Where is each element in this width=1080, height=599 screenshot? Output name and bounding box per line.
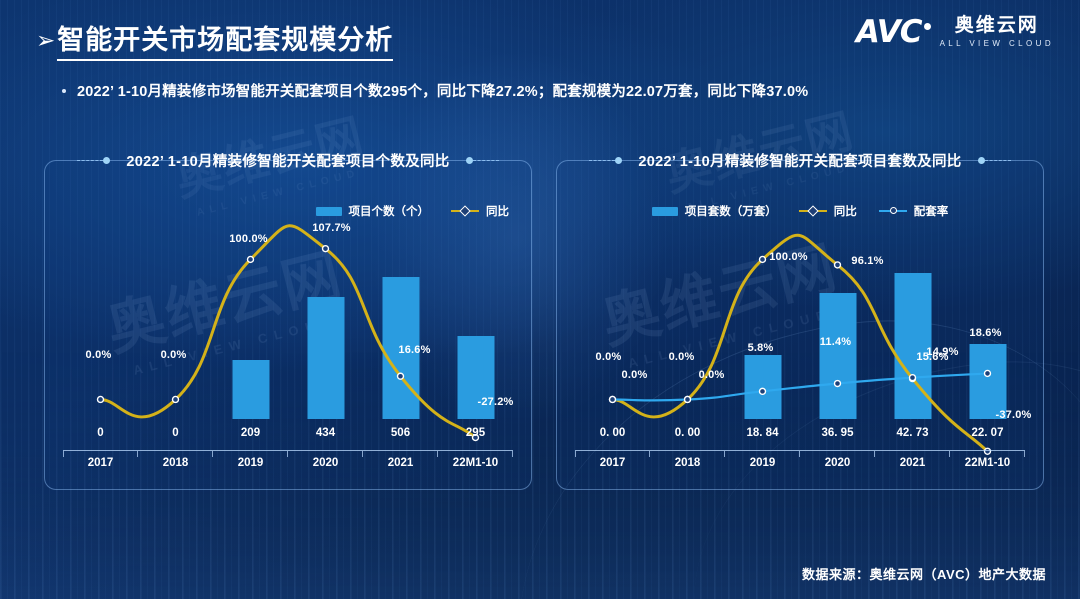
chart-plot-right: 0.0%0.0%100.0%96.1%14.9%-37.0%0.0%0.0%5.… — [575, 223, 1025, 477]
legend-label: 同比 — [486, 203, 509, 219]
bar-value-label: 42. 73 — [875, 427, 950, 447]
legend-item-bars[interactable]: 项目个数（个） — [316, 203, 430, 219]
line-marker[interactable] — [173, 396, 179, 402]
bar-value-label: 22. 07 — [950, 427, 1025, 447]
legend-label: 配套率 — [914, 203, 949, 219]
line-marker[interactable] — [323, 246, 329, 252]
title-dash-icon — [589, 160, 615, 161]
category-label[interactable]: 2020 — [800, 457, 875, 477]
line-marker[interactable] — [835, 381, 841, 387]
bar-value-label: 0 — [63, 427, 138, 447]
category-label[interactable]: 2021 — [875, 457, 950, 477]
plot-area-left: 0.0%0.0%100.0%107.7%16.6%-27.2% — [63, 223, 513, 419]
bar-value-label: 0 — [138, 427, 213, 447]
chart-panel-left: 2022’ 1-10月精装修智能开关配套项目个数及同比 项目个数（个） 同比 0… — [44, 160, 532, 490]
title-dot-icon — [615, 157, 622, 164]
line-marker[interactable] — [760, 256, 766, 262]
bar-value-label: 506 — [363, 427, 438, 447]
legend-bar-swatch-icon — [652, 207, 678, 216]
logo-chinese-name: 奥维云网 — [955, 16, 1039, 37]
data-label: -37.0% — [995, 409, 1031, 421]
chart-legend-right: 项目套数（万套） 同比 配套率 — [557, 203, 1043, 219]
legend-label: 同比 — [834, 203, 857, 219]
title-dash-icon — [985, 160, 1011, 161]
data-label: 100.0% — [769, 251, 808, 263]
legend-bar-swatch-icon — [316, 207, 342, 216]
bullet-dot-icon — [62, 89, 66, 93]
summary-bullet: 2022’ 1-10月精装修市场智能开关配套项目个数295个，同比下降27.2%… — [62, 80, 808, 101]
data-label: 0.0% — [699, 369, 725, 381]
category-row-left: 2017201820192020202122M1-10 — [63, 457, 513, 477]
title-trail-left — [466, 157, 499, 164]
category-label[interactable]: 2017 — [575, 457, 650, 477]
category-label[interactable]: 2017 — [63, 457, 138, 477]
line-marker[interactable] — [685, 396, 691, 402]
line-marker[interactable] — [835, 262, 841, 268]
data-label: 15.6% — [916, 351, 948, 363]
title-dot-icon — [978, 157, 985, 164]
data-label: 0.0% — [669, 351, 695, 363]
page-header: ➢ 智能开关市场配套规模分析 AVC 奥维云网 ALL VIEW CLOUD — [0, 0, 1080, 64]
summary-bullet-text: 2022’ 1-10月精装修市场智能开关配套项目个数295个，同比下降27.2%… — [77, 80, 808, 101]
bar-value-label: 295 — [438, 427, 513, 447]
line-marker[interactable] — [910, 375, 916, 381]
legend-item-bars[interactable]: 项目套数（万套） — [652, 203, 777, 219]
data-label: 0.0% — [622, 369, 648, 381]
category-label[interactable]: 2018 — [650, 457, 725, 477]
data-label: 100.0% — [229, 233, 268, 245]
data-label: 16.6% — [398, 344, 430, 356]
title-dash-icon — [77, 160, 103, 161]
line-marker[interactable] — [248, 256, 254, 262]
line-marker[interactable] — [98, 396, 104, 402]
data-label: 0.0% — [596, 351, 622, 363]
category-label[interactable]: 2019 — [213, 457, 288, 477]
title-lead-right — [589, 157, 622, 164]
value-row-left: 00209434506295 — [63, 427, 513, 447]
data-label: 5.8% — [748, 342, 774, 354]
data-label: 96.1% — [851, 255, 883, 267]
line-path — [613, 235, 988, 451]
category-label[interactable]: 2018 — [138, 457, 213, 477]
data-source-note: 数据来源：奥维云网（AVC）地产大数据 — [802, 564, 1046, 583]
category-label[interactable]: 22M1-10 — [438, 457, 513, 477]
chart-title-left-row: 2022’ 1-10月精装修智能开关配套项目个数及同比 — [45, 150, 531, 171]
line-marker[interactable] — [398, 373, 404, 379]
chart-title-right: 2022’ 1-10月精装修智能开关配套项目套数及同比 — [632, 150, 967, 171]
data-label: -27.2% — [477, 396, 513, 408]
line-marker[interactable] — [610, 396, 616, 402]
bar-value-label: 434 — [288, 427, 363, 447]
data-label: 107.7% — [312, 222, 351, 234]
title-dot-icon — [466, 157, 473, 164]
chart-title-left: 2022’ 1-10月精装修智能开关配套项目个数及同比 — [120, 150, 455, 171]
legend-item-rate[interactable]: 配套率 — [879, 203, 949, 219]
chart-title-right-row: 2022’ 1-10月精装修智能开关配套项目套数及同比 — [557, 150, 1043, 171]
category-label[interactable]: 2021 — [363, 457, 438, 477]
category-row-right: 2017201820192020202122M1-10 — [575, 457, 1025, 477]
category-label[interactable]: 22M1-10 — [950, 457, 1025, 477]
legend-line-swatch-icon — [799, 206, 827, 216]
legend-line-swatch-icon — [451, 206, 479, 216]
chart-legend-left: 项目个数（个） 同比 — [316, 203, 510, 219]
legend-line-swatch-icon — [879, 206, 907, 216]
value-row-right: 0. 000. 0018. 8436. 9542. 7322. 07 — [575, 427, 1025, 447]
title-dash-icon — [473, 160, 499, 161]
data-label: 0.0% — [86, 349, 112, 361]
bar-value-label: 209 — [213, 427, 288, 447]
legend-label: 项目个数（个） — [349, 203, 430, 219]
legend-label: 项目套数（万套） — [685, 203, 777, 219]
logo-avc-mark: AVC — [856, 14, 931, 50]
avc-logo: AVC 奥维云网 ALL VIEW CLOUD — [856, 14, 1054, 50]
chart-plot-left: 0.0%0.0%100.0%107.7%16.6%-27.2% 00209434… — [63, 223, 513, 477]
line-path — [613, 373, 988, 400]
line-marker[interactable] — [984, 370, 990, 376]
title-dot-icon — [103, 157, 110, 164]
line-path — [101, 226, 476, 438]
arrow-bullet-icon: ➢ — [36, 29, 55, 52]
data-label: 0.0% — [161, 349, 187, 361]
bar-value-label: 0. 00 — [650, 427, 725, 447]
data-label: 18.6% — [969, 327, 1001, 339]
legend-item-yoy[interactable]: 同比 — [451, 203, 509, 219]
line-marker[interactable] — [760, 388, 766, 394]
bar-value-label: 0. 00 — [575, 427, 650, 447]
legend-item-yoy[interactable]: 同比 — [799, 203, 857, 219]
logo-english-name: ALL VIEW CLOUD — [940, 39, 1054, 48]
logo-avc-text: AVC — [856, 14, 922, 50]
page-title: 智能开关市场配套规模分析 — [57, 18, 393, 61]
data-label: 11.4% — [820, 336, 852, 348]
bar-value-label: 18. 84 — [725, 427, 800, 447]
title-trail-right — [978, 157, 1011, 164]
chart-panel-right: 2022’ 1-10月精装修智能开关配套项目套数及同比 项目套数（万套） 同比 … — [556, 160, 1044, 490]
title-lead-left — [77, 157, 110, 164]
logo-dot-icon — [924, 23, 931, 30]
logo-wordmark: 奥维云网 ALL VIEW CLOUD — [940, 16, 1054, 48]
page-title-row: ➢ 智能开关市场配套规模分析 — [36, 18, 393, 61]
category-label[interactable]: 2020 — [288, 457, 363, 477]
bar-value-label: 36. 95 — [800, 427, 875, 447]
plot-area-right: 0.0%0.0%100.0%96.1%14.9%-37.0%0.0%0.0%5.… — [575, 223, 1025, 419]
category-label[interactable]: 2019 — [725, 457, 800, 477]
